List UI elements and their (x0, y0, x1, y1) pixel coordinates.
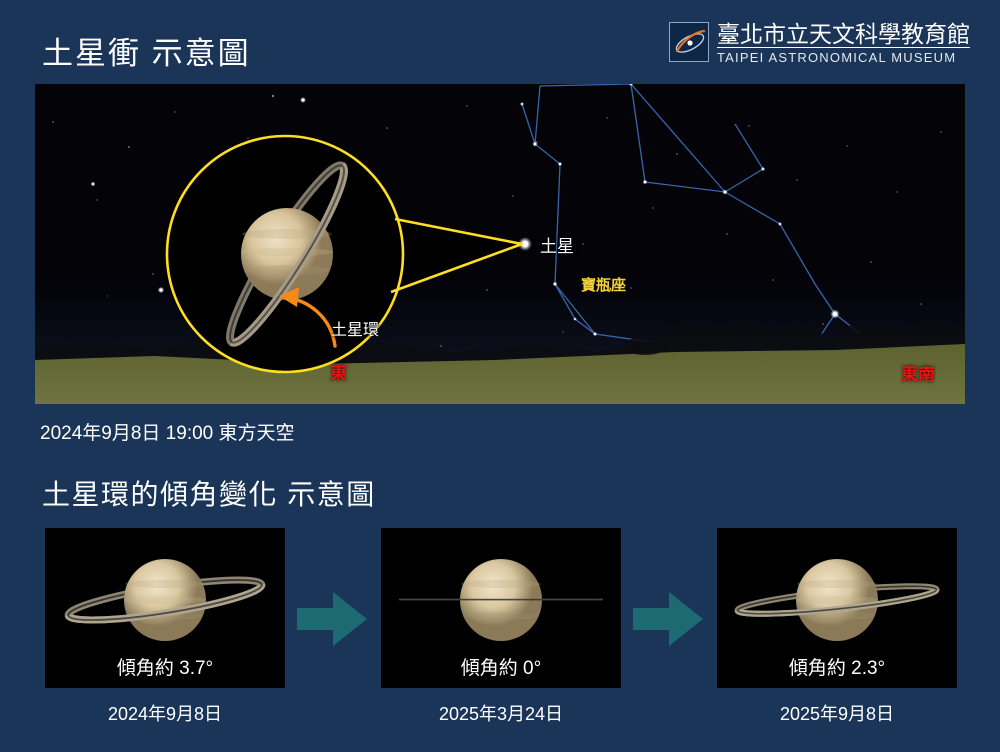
label-saturn-ring: 土星環 (331, 316, 379, 340)
orbit-swoosh-icon (669, 22, 709, 62)
ring-tilt-value-3: 傾角約 2.3° (717, 653, 957, 680)
sky-chart-image: 土星 寶瓶座 土星環 東 東南 (35, 84, 965, 404)
page-title: 土星衝 示意圖 (42, 28, 251, 73)
label-saturn: 土星 (540, 232, 574, 257)
ring-tilt-panel-2: 傾角約 0° (381, 528, 621, 688)
ring-tilt-value-2: 傾角約 0° (381, 653, 621, 680)
ring-tilt-panel-1: 傾角約 3.7° (45, 528, 285, 688)
infographic-page: 土星衝 示意圖 臺北市立天文科學教育館 TAIPEI ASTRONOMICAL … (0, 0, 1000, 752)
arrow-right-icon-1 (297, 590, 367, 648)
ring-tilt-date-3: 2025年9月8日 (717, 700, 957, 726)
logo-name-en: TAIPEI ASTRONOMICAL MUSEUM (717, 50, 970, 66)
ring-tilt-date-2: 2025年3月24日 (381, 700, 621, 726)
logo-name-cn: 臺北市立天文科學教育館 (717, 22, 970, 48)
label-constellation-aquarius: 寶瓶座 (581, 274, 626, 295)
sky-chart: 土星 寶瓶座 土星環 東 東南 (35, 84, 965, 404)
arrow-right-icon-2 (633, 590, 703, 648)
ring-tilt-value-1: 傾角約 3.7° (45, 653, 285, 680)
ring-tilt-date-1: 2024年9月8日 (45, 700, 285, 726)
header: 土星衝 示意圖 臺北市立天文科學教育館 TAIPEI ASTRONOMICAL … (0, 0, 1000, 82)
direction-marker-east: 東 (330, 359, 347, 384)
ring-tilt-panel-3: 傾角約 2.3° (717, 528, 957, 688)
direction-marker-southeast: 東南 (901, 360, 935, 385)
sky-chart-graphics (35, 84, 965, 404)
logo-text-block: 臺北市立天文科學教育館 TAIPEI ASTRONOMICAL MUSEUM (717, 22, 970, 66)
museum-logo: 臺北市立天文科學教育館 TAIPEI ASTRONOMICAL MUSEUM (669, 22, 970, 66)
ring-tilt-panels: 傾角約 3.7° 2024年9月8日 (0, 528, 1000, 748)
sky-chart-caption: 2024年9月8日 19:00 東方天空 (40, 418, 295, 445)
section-title-ring-tilt: 土星環的傾角變化 示意圖 (42, 473, 376, 513)
